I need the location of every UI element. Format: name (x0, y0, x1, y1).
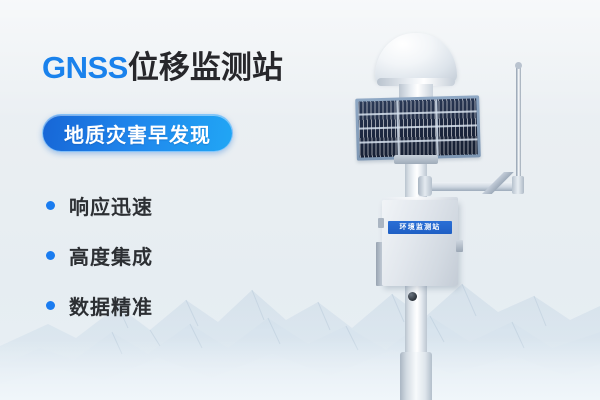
cross-arm-brace (470, 172, 518, 194)
solar-panel-bracket (394, 155, 438, 164)
feature-label: 数据精准 (69, 291, 153, 320)
solar-panel-cells (358, 98, 478, 157)
tagline-badge-text: 地质灾害早发现 (64, 119, 211, 148)
list-item: 响应迅速 (46, 180, 296, 230)
feature-label: 响应迅速 (69, 191, 153, 220)
enclosure-brand-label: 环境监测站 (388, 221, 452, 234)
enclosure-latch (456, 240, 463, 252)
pole-base (400, 352, 432, 400)
tagline-badge: 地质灾害早发现 (42, 114, 233, 152)
list-item: 数据精准 (46, 280, 296, 330)
whip-antenna-tip (515, 62, 522, 69)
bullet-dot-icon (46, 301, 55, 310)
cross-arm-endcap (512, 176, 524, 194)
gnss-monitoring-station-illustration: 环境监测站 (320, 0, 600, 400)
cross-arm-collar (418, 176, 432, 196)
marketing-copy-block: GNSS位移监测站 地质灾害早发现 响应迅速 高度集成 数据精准 (0, 0, 340, 400)
page-title: GNSS位移监测站 (42, 52, 283, 83)
gnss-antenna-dome-icon (375, 33, 457, 83)
bullet-dot-icon (46, 201, 55, 210)
enclosure-label-text: 环境监测站 (400, 224, 441, 231)
equipment-enclosure (382, 200, 458, 286)
headline-brand: GNSS (42, 50, 128, 85)
feature-list: 响应迅速 高度集成 数据精准 (46, 180, 296, 330)
bullet-dot-icon (46, 251, 55, 260)
feature-label: 高度集成 (69, 241, 153, 270)
pole-sensor-bolt (408, 292, 417, 301)
enclosure-hinge (378, 218, 384, 228)
poster-canvas: 环境监测站 GNSS位移监测站 地质灾害早发现 响应迅速 高度集成 数据精准 (0, 0, 600, 400)
headline-rest: 位移监测站 (128, 50, 283, 85)
whip-antenna (516, 66, 521, 181)
list-item: 高度集成 (46, 230, 296, 280)
solar-panel (355, 95, 481, 160)
